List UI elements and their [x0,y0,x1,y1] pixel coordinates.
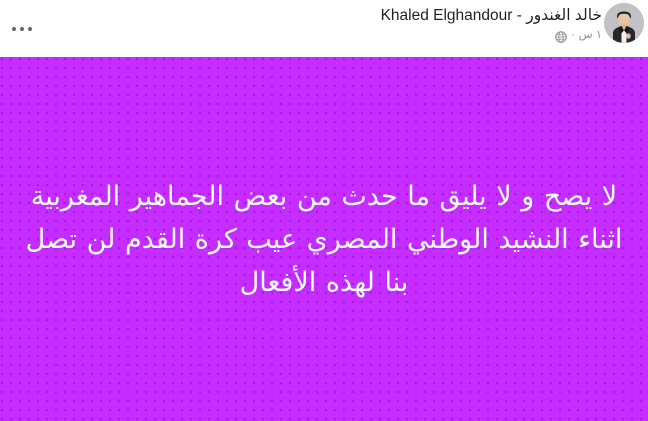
post-header: خالد الغندور - Khaled Elghandour ١ س · [0,0,648,57]
author-name-arabic: خالد الغندور [526,7,602,24]
post-options-menu-icon[interactable] [9,24,35,34]
menu-dot [20,27,24,31]
author-block: خالد الغندور - Khaled Elghandour ١ س · [381,6,602,43]
post-timestamp[interactable]: ١ س [579,28,602,43]
globe-icon[interactable] [555,31,567,43]
menu-dot [28,27,32,31]
author-name-latin: Khaled Elghandour [381,6,513,26]
meta-separator: · [571,28,575,43]
post-text: لا يصح و لا يليق ما حدث من بعض الجماهير … [0,175,648,304]
post-background-card: لا يصح و لا يليق ما حدث من بعض الجماهير … [0,57,648,421]
author-name[interactable]: خالد الغندور - Khaled Elghandour [381,6,602,26]
menu-dot [12,27,16,31]
post-text-line: اثناء النشيد الوطني المصري عيب كرة القدم… [18,218,630,261]
post-meta: ١ س · [381,28,602,43]
author-name-separator: - [517,7,522,24]
post-text-line: لا يصح و لا يليق ما حدث من بعض الجماهير … [18,175,630,218]
facebook-post: خالد الغندور - Khaled Elghandour ١ س · [0,0,648,421]
avatar[interactable] [604,3,644,43]
post-text-line: بنا لهذه الأفعال [18,261,630,304]
